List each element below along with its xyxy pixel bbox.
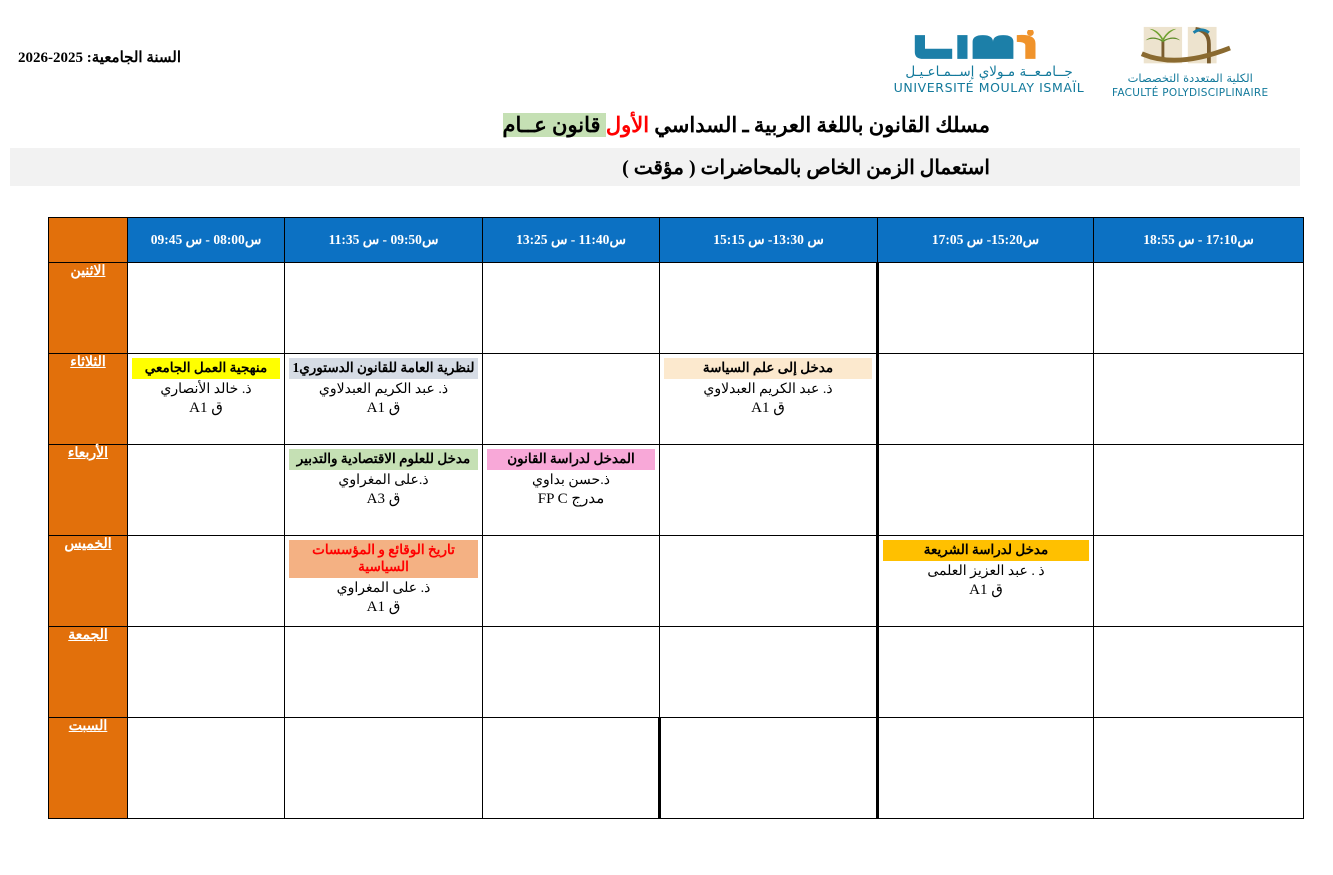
timetable-cell[interactable] [483,354,660,445]
umi-logo-mark [908,30,1070,64]
fpd-logo-french-name: FACULTÉ POLYDISCIPLINAIRE [1112,87,1268,99]
course-title: مدخل للعلوم الاقتصادية والتدبير [289,449,478,470]
course-title: منهجية العمل الجامعي [132,358,280,379]
course-room: ق A1 [132,399,280,418]
timetable-cell[interactable] [285,263,483,354]
timetable-cell[interactable] [878,627,1094,718]
timetable-cell[interactable] [128,627,285,718]
title-program: مسلك القانون باللغة العربية ـ السداسي [649,113,990,137]
timetable-cell[interactable] [660,445,878,536]
timetable-cell[interactable] [1094,354,1304,445]
course-teacher: ذ . عبد العزيز العلمى [883,563,1089,581]
course-title: لنظرية العامة للقانون الدستوري1 [289,358,478,379]
day-label-الجمعة[interactable]: الجمعة [49,627,128,718]
timetable-cell[interactable] [285,627,483,718]
title-semester: الأول [606,113,649,137]
course-teacher: ذ. عبد الكريم العبدلاوي [289,381,478,399]
time-slot-header-4: س15:20- س 17:05 [878,218,1094,263]
timetable-cell[interactable] [1094,718,1304,819]
timetable-cell[interactable] [660,627,878,718]
umi-logo-french-name: UNIVERSITÉ MOULAY ISMAÏL [894,81,1085,95]
timetable-cell[interactable] [483,718,660,819]
course-entry: تاريخ الوقائع و المؤسسات السياسيةذ. على … [285,536,482,619]
timetable-cell[interactable]: مدخل لدراسة الشريعةذ . عبد العزيز العلمى… [878,536,1094,627]
time-slot-header-0: س08:00 - س 09:45 [128,218,285,263]
course-title: مدخل لدراسة الشريعة [883,540,1089,561]
time-slot-header-2: س11:40 - س 13:25 [483,218,660,263]
time-slot-header-3: س 13:30- س 15:15 [660,218,878,263]
timetable: س17:10 - س 18:55 س15:20- س 17:05 س 13:30… [48,217,1304,819]
day-label-الخميس[interactable]: الخميس [49,536,128,627]
academic-year-label: السنة الجامعية: 2025-2026 [0,48,278,67]
course-entry: منهجية العمل الجامعيذ. خالد الأنصاريق A1 [128,354,284,420]
timetable-cell[interactable] [878,263,1094,354]
timetable-cell[interactable] [878,445,1094,536]
course-entry: مدخل لدراسة الشريعةذ . عبد العزيز العلمى… [879,536,1093,602]
time-slot-header-1: س09:50 - س 11:35 [285,218,483,263]
timetable-row: مدخل إلى علم السياسةذ. عبد الكريم العبدل… [49,354,1304,445]
timetable-row: السبت [49,718,1304,819]
timetable-cell[interactable] [128,263,285,354]
course-teacher: ذ. خالد الأنصاري [132,381,280,399]
page-title: مسلك القانون باللغة العربية ـ السداسي ال… [0,113,990,138]
timetable-cell[interactable] [660,536,878,627]
timetable-cell[interactable] [878,718,1094,819]
timetable-row: الجمعة [49,627,1304,718]
day-label-الثلاثاء[interactable]: الثلاثاء [49,354,128,445]
day-label-السبت[interactable]: السبت [49,718,128,819]
umi-logo-arabic-name: جــامـعــة مـولاي إســمـاعـيـل [905,65,1072,80]
timetable-header-row: س17:10 - س 18:55 س15:20- س 17:05 س 13:30… [49,218,1304,263]
course-room: ق A3 [289,490,478,509]
course-entry: مدخل للعلوم الاقتصادية والتدبيرذ.على الم… [285,445,482,511]
timetable-cell[interactable] [878,354,1094,445]
timetable-cell[interactable]: مدخل للعلوم الاقتصادية والتدبيرذ.على الم… [285,445,483,536]
timetable-cell[interactable] [1094,445,1304,536]
course-teacher: ذ. على المغراوي [289,580,478,598]
timetable-cell[interactable] [128,445,285,536]
course-room: مدرج FP C [487,490,655,509]
course-entry: لنظرية العامة للقانون الدستوري1ذ. عبد ال… [285,354,482,420]
timetable-cell[interactable] [285,718,483,819]
course-title: مدخل إلى علم السياسة [664,358,872,379]
timetable-cell[interactable] [1094,627,1304,718]
course-room: ق A1 [883,581,1089,600]
timetable-row: المدخل لدراسة القانونذ.حسن بداويمدرج FP … [49,445,1304,536]
timetable-cell[interactable] [128,536,285,627]
title-track: قانون عــام [503,113,606,137]
day-label-الاثنين[interactable]: الاثنين [49,263,128,354]
fpd-logo-mark [1138,25,1243,71]
course-room: ق A1 [289,399,478,418]
course-teacher: ذ. عبد الكريم العبدلاوي [664,381,872,399]
timetable-row: مدخل لدراسة الشريعةذ . عبد العزيز العلمى… [49,536,1304,627]
timetable-cell[interactable] [483,263,660,354]
timetable-cell[interactable]: المدخل لدراسة القانونذ.حسن بداويمدرج FP … [483,445,660,536]
course-entry: المدخل لدراسة القانونذ.حسن بداويمدرج FP … [483,445,659,511]
timetable-cell[interactable] [483,536,660,627]
day-label-الأربعاء[interactable]: الأربعاء [49,445,128,536]
timetable-cell[interactable] [483,627,660,718]
course-entry: مدخل إلى علم السياسةذ. عبد الكريم العبدل… [660,354,876,420]
course-room: ق A1 [289,598,478,617]
timetable-corner-cell [49,218,128,263]
course-teacher: ذ.على المغراوي [289,472,478,490]
fpd-logo-arabic-name: الكلية المتعددة التخصصات [1128,72,1253,85]
timetable-cell[interactable] [1094,536,1304,627]
timetable-cell[interactable] [660,263,878,354]
course-title: تاريخ الوقائع و المؤسسات السياسية [289,540,478,578]
course-teacher: ذ.حسن بداوي [487,472,655,490]
course-room: ق A1 [664,399,872,418]
timetable-row: الاثنين [49,263,1304,354]
logo-row: جــامـعــة مـولاي إســمـاعـيـل UNIVERSIT… [898,14,1254,110]
timetable-cell[interactable]: لنظرية العامة للقانون الدستوري1ذ. عبد ال… [285,354,483,445]
timetable-container: س17:10 - س 18:55 س15:20- س 17:05 س 13:30… [49,217,1304,819]
timetable-cell[interactable]: منهجية العمل الجامعيذ. خالد الأنصاريق A1 [128,354,285,445]
faculte-polydisciplinaire-logo: الكلية المتعددة التخصصات FACULTÉ POLYDIS… [1112,25,1268,98]
timetable-cell[interactable] [660,718,878,819]
course-title: المدخل لدراسة القانون [487,449,655,470]
timetable-cell[interactable]: تاريخ الوقائع و المؤسسات السياسيةذ. على … [285,536,483,627]
timetable-cell[interactable]: مدخل إلى علم السياسةذ. عبد الكريم العبدل… [660,354,878,445]
timetable-cell[interactable] [1094,263,1304,354]
page-subtitle: استعمال الزمن الخاص بالمحاضرات ( مؤقت ) [0,155,990,180]
timetable-cell[interactable] [128,718,285,819]
time-slot-header-5: س17:10 - س 18:55 [1094,218,1304,263]
umi-logo: جــامـعــة مـولاي إســمـاعـيـل UNIVERSIT… [898,30,1080,95]
